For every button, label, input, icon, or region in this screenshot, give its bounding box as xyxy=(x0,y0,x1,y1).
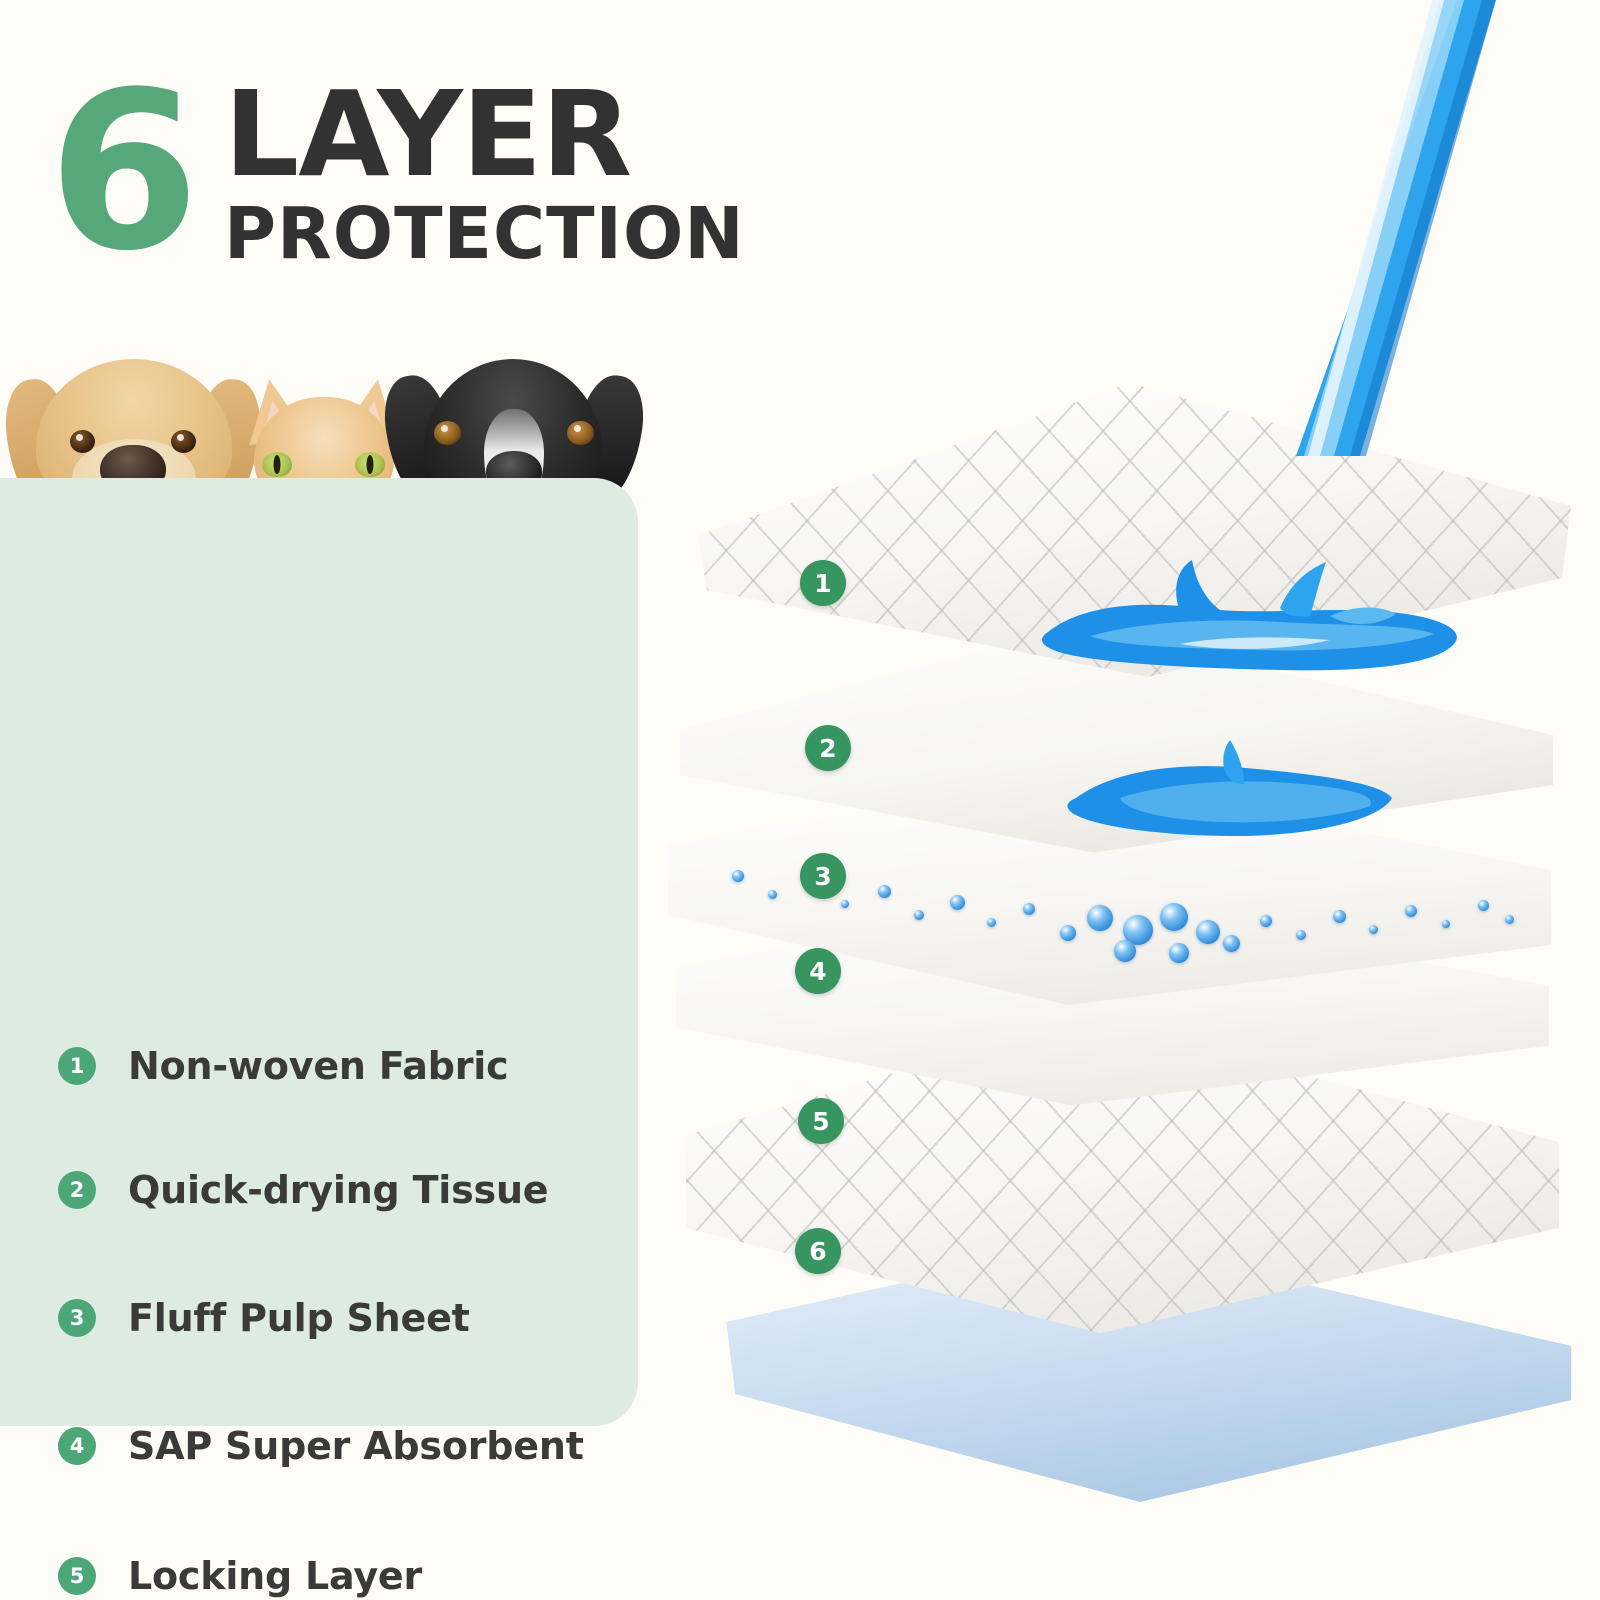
cat-eye-left xyxy=(262,452,292,477)
product-layer-stack-image xyxy=(640,360,1600,1520)
collie-eye-left xyxy=(434,421,461,445)
cat-eye-right xyxy=(355,452,385,477)
list-item[interactable]: 2 Quick-drying Tissue xyxy=(58,1168,548,1212)
layer-badge-1: 1 xyxy=(58,1047,96,1085)
layer-badge-5: 5 xyxy=(58,1557,96,1595)
list-item[interactable]: 3 Fluff Pulp Sheet xyxy=(58,1296,470,1340)
product-callout-3[interactable]: 3 xyxy=(800,853,846,899)
layer-badge-3: 3 xyxy=(58,1299,96,1337)
page-title: 6 LAYER PROTECTION xyxy=(48,70,688,290)
dog-eye-left xyxy=(70,430,95,453)
header-title-line1: LAYER xyxy=(224,78,745,190)
collie-eye-right xyxy=(567,421,594,445)
layer-badge-2: 2 xyxy=(58,1171,96,1209)
layer-label-5: Locking Layer xyxy=(128,1554,422,1598)
list-item[interactable]: 1 Non-woven Fabric xyxy=(58,1044,508,1088)
header-number: 6 xyxy=(48,64,192,282)
product-callout-4[interactable]: 4 xyxy=(795,948,841,994)
dog-eye-right xyxy=(171,430,196,453)
water-puddle-layer-2 xyxy=(1050,740,1400,850)
product-callout-5[interactable]: 5 xyxy=(798,1098,844,1144)
header-title-stack: LAYER PROTECTION xyxy=(224,78,745,272)
water-pour-stream xyxy=(1200,0,1500,456)
list-item[interactable]: 5 Locking Layer xyxy=(58,1554,422,1598)
product-callout-1[interactable]: 1 xyxy=(800,560,846,606)
layer-badge-4: 4 xyxy=(58,1427,96,1465)
product-callout-2[interactable]: 2 xyxy=(805,725,851,771)
layer-label-4: SAP Super Absorbent xyxy=(128,1424,584,1468)
layer-label-3: Fluff Pulp Sheet xyxy=(128,1296,470,1340)
infographic-canvas: 6 LAYER PROTECTION xyxy=(0,0,1600,1600)
layer-list: 1 Non-woven Fabric 2 Quick-drying Tissue… xyxy=(0,478,638,1426)
layer-label-2: Quick-drying Tissue xyxy=(128,1168,548,1212)
layer-list-panel: 1 Non-woven Fabric 2 Quick-drying Tissue… xyxy=(0,478,638,1426)
layer-label-1: Non-woven Fabric xyxy=(128,1044,508,1088)
list-item[interactable]: 4 SAP Super Absorbent xyxy=(58,1424,584,1468)
product-callout-6[interactable]: 6 xyxy=(795,1228,841,1274)
water-puddle-layer-1 xyxy=(1030,560,1470,680)
header-title-line2: PROTECTION xyxy=(224,196,745,272)
